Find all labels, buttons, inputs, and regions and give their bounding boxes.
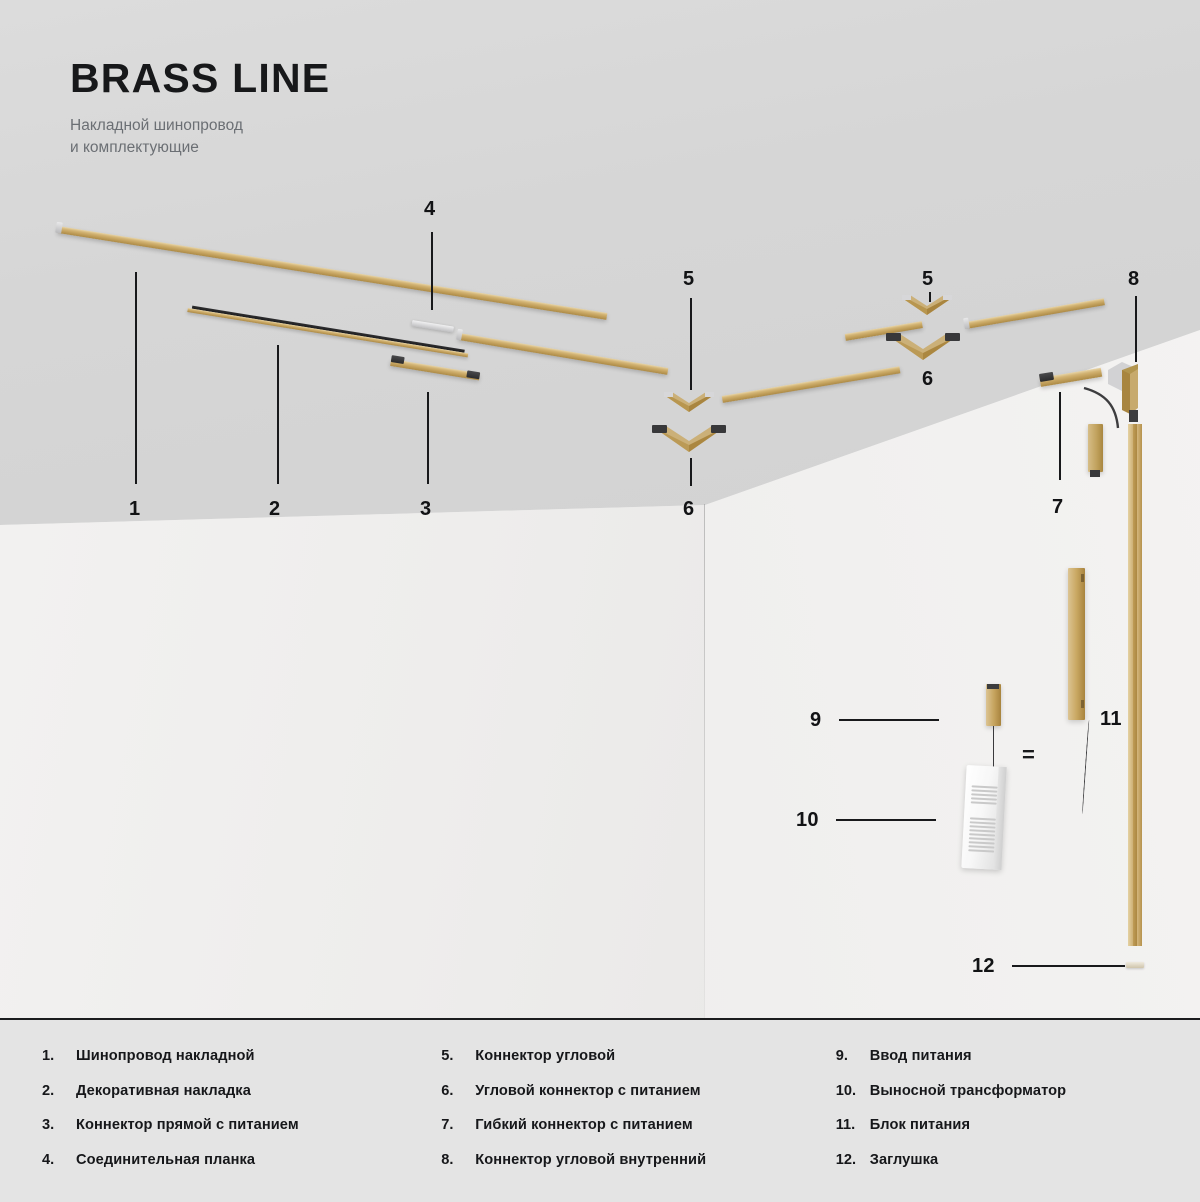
legend-item-number: 1. [42, 1048, 76, 1064]
callout-number-8: 8 [1128, 268, 1139, 291]
legend-column-2: 5. Коннектор угловой 6. Угловой коннекто… [441, 1048, 835, 1168]
legend-item-label: Ввод питания [870, 1048, 972, 1064]
list-item: 7. Гибкий коннектор с питанием [441, 1117, 835, 1133]
leader-line-10 [836, 819, 936, 821]
leader-line-2 [277, 345, 279, 484]
legend-item-number: 11. [836, 1117, 870, 1133]
legend-item-label: Выносной трансформатор [870, 1083, 1066, 1099]
callout-number-6-right: 6 [922, 368, 933, 391]
legend-panel: 1. Шинопровод накладной 2. Декоративная … [0, 1018, 1200, 1202]
legend-item-label: Соединительная планка [76, 1152, 255, 1168]
legend-item-label: Заглушка [870, 1152, 939, 1168]
legend-item-label: Угловой коннектор с питанием [475, 1083, 700, 1099]
list-item: 11. Блок питания [836, 1117, 1158, 1133]
list-item: 4. Соединительная планка [42, 1152, 441, 1168]
list-item: 12. Заглушка [836, 1152, 1158, 1168]
callout-number-6-left: 6 [683, 498, 694, 521]
legend-column-1: 1. Шинопровод накладной 2. Декоративная … [42, 1048, 441, 1168]
list-item: 2. Декоративная накладка [42, 1083, 441, 1099]
legend-item-label: Гибкий коннектор с питанием [475, 1117, 693, 1133]
callout-number-3: 3 [420, 498, 431, 521]
legend-item-number: 7. [441, 1117, 475, 1133]
legend-item-label: Коннектор прямой с питанием [76, 1117, 299, 1133]
leader-line-4 [431, 232, 433, 310]
leader-line-12 [1012, 965, 1125, 967]
legend-item-number: 4. [42, 1152, 76, 1168]
callout-number-10: 10 [796, 809, 819, 832]
legend-columns: 1. Шинопровод накладной 2. Декоративная … [0, 1020, 1200, 1168]
legend-item-number: 2. [42, 1083, 76, 1099]
legend-item-number: 12. [836, 1152, 870, 1168]
legend-item-label: Шинопровод накладной [76, 1048, 255, 1064]
list-item: 1. Шинопровод накладной [42, 1048, 441, 1064]
leader-line-8 [1135, 296, 1137, 362]
callout-number-4: 4 [424, 198, 435, 221]
leader-line-5-right [929, 292, 931, 302]
callout-number-5-right: 5 [922, 268, 933, 291]
leader-line-7 [1059, 392, 1061, 480]
leader-line-9 [839, 719, 939, 721]
callout-number-2: 2 [269, 498, 280, 521]
leader-line-6-left [690, 458, 692, 486]
list-item: 5. Коннектор угловой [441, 1048, 835, 1064]
leader-line-1 [135, 272, 137, 484]
callout-number-1: 1 [129, 498, 140, 521]
legend-item-label: Коннектор угловой [475, 1048, 615, 1064]
legend-column-3: 9. Ввод питания 10. Выносной трансформат… [836, 1048, 1158, 1168]
callout-number-5-top: 5 [683, 268, 694, 291]
list-item: 8. Коннектор угловой внутренний [441, 1152, 835, 1168]
leader-line-3 [427, 392, 429, 484]
callout-number-7: 7 [1052, 496, 1063, 519]
legend-item-number: 5. [441, 1048, 475, 1064]
legend-item-number: 6. [441, 1083, 475, 1099]
legend-item-label: Декоративная накладка [76, 1083, 251, 1099]
legend-item-number: 10. [836, 1083, 870, 1099]
list-item: 3. Коннектор прямой с питанием [42, 1117, 441, 1133]
product-diagram-page: BRASS LINE Накладной шинопровод и компле… [0, 0, 1200, 1200]
legend-item-label: Блок питания [870, 1117, 970, 1133]
leader-line-5-top [690, 298, 692, 390]
callout-number-11: 11 [1100, 708, 1122, 731]
list-item: 10. Выносной трансформатор [836, 1083, 1158, 1099]
callout-number-12: 12 [972, 955, 995, 978]
legend-item-number: 3. [42, 1117, 76, 1133]
list-item: 6. Угловой коннектор с питанием [441, 1083, 835, 1099]
legend-item-number: 8. [441, 1152, 475, 1168]
callout-number-9: 9 [810, 709, 821, 732]
legend-item-number: 9. [836, 1048, 870, 1064]
legend-item-label: Коннектор угловой внутренний [475, 1152, 706, 1168]
list-item: 9. Ввод питания [836, 1048, 1158, 1064]
